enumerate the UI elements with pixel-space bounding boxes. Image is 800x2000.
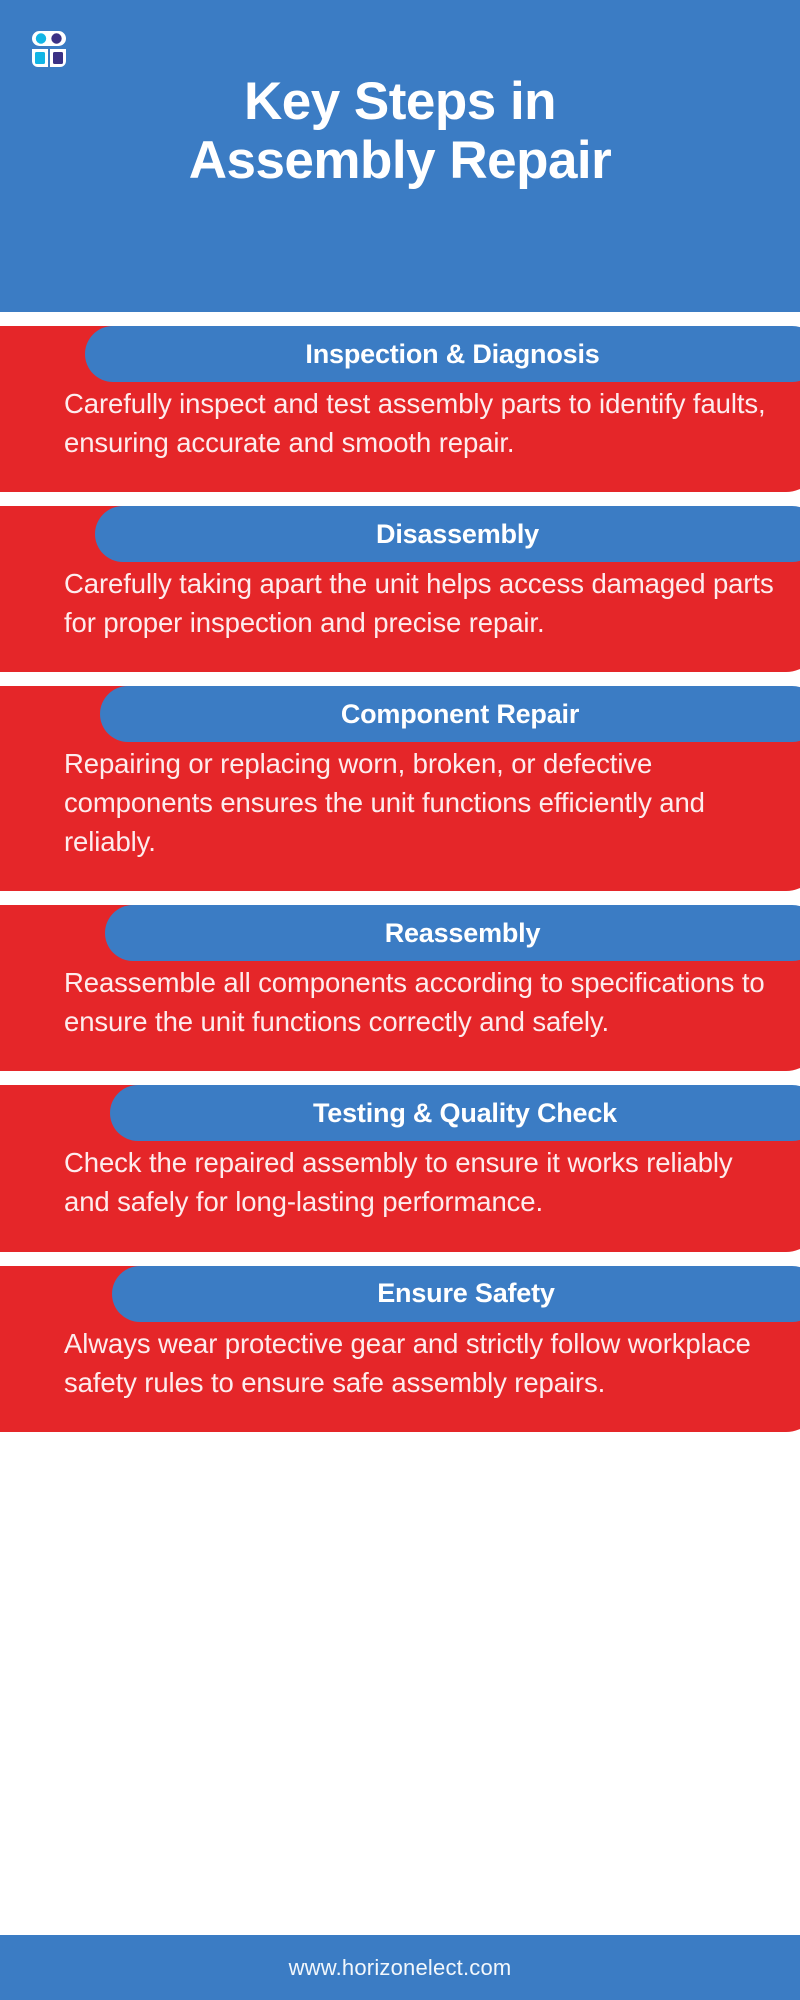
step-title-pill[interactable]: Ensure Safety [112, 1266, 800, 1322]
step-title: Testing & Quality Check [313, 1100, 617, 1127]
step-title: Component Repair [341, 701, 579, 728]
footer-bar: www.horizonelect.com [0, 1935, 800, 2000]
steps-list: Inspection & Diagnosis Carefully inspect… [0, 312, 800, 1432]
footer-website-url[interactable]: www.horizonelect.com [289, 1955, 512, 1981]
step-title-pill[interactable]: Component Repair [100, 686, 800, 742]
header-banner: Key Steps in Assembly Repair [0, 0, 800, 312]
step-card: Testing & Quality Check Check the repair… [0, 1085, 800, 1251]
step-title-pill[interactable]: Disassembly [95, 506, 800, 562]
step-description: Always wear protective gear and strictly… [64, 1324, 774, 1402]
step-card: Ensure Safety Always wear protective gea… [0, 1266, 800, 1432]
page-title-line-1: Key Steps in [40, 72, 760, 131]
step-title: Reassembly [385, 920, 541, 947]
step-description: Reassemble all components according to s… [64, 963, 774, 1041]
step-card: Reassembly Reassemble all components acc… [0, 905, 800, 1071]
step-title-pill[interactable]: Inspection & Diagnosis [85, 326, 800, 382]
page-title-line-2: Assembly Repair [40, 131, 760, 190]
book-people-logo-icon [31, 30, 67, 68]
step-card: Inspection & Diagnosis Carefully inspect… [0, 326, 800, 492]
step-description: Carefully inspect and test assembly part… [64, 384, 774, 462]
step-description: Repairing or replacing worn, broken, or … [64, 744, 774, 861]
step-title: Inspection & Diagnosis [305, 341, 599, 368]
step-title: Disassembly [376, 521, 539, 548]
page-title: Key Steps in Assembly Repair [0, 72, 800, 191]
step-title-pill[interactable]: Reassembly [105, 905, 800, 961]
step-description: Carefully taking apart the unit helps ac… [64, 564, 774, 642]
step-card: Disassembly Carefully taking apart the u… [0, 506, 800, 672]
step-card: Component Repair Repairing or replacing … [0, 686, 800, 891]
step-description: Check the repaired assembly to ensure it… [64, 1143, 774, 1221]
step-title: Ensure Safety [377, 1280, 554, 1307]
step-title-pill[interactable]: Testing & Quality Check [110, 1085, 800, 1141]
infographic-page: Key Steps in Assembly Repair Inspection … [0, 0, 800, 2000]
